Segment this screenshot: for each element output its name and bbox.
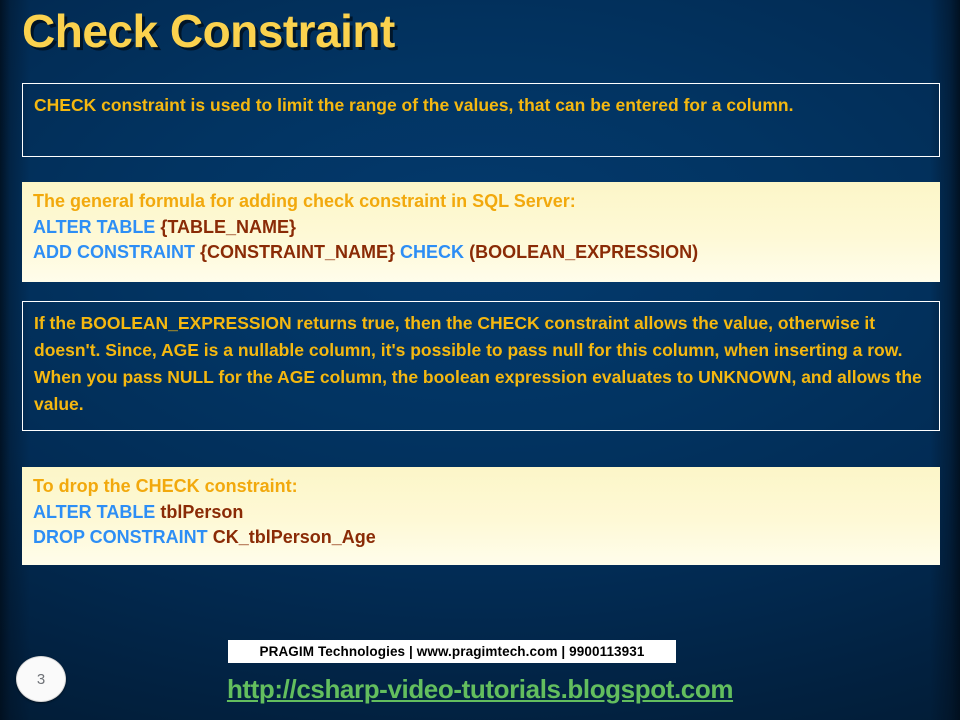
sql-identifier-table-name: {TABLE_NAME}	[160, 217, 296, 237]
formula-heading: The general formula for adding check con…	[33, 189, 930, 215]
drop-constraint-code-box: To drop the CHECK constraint: ALTER TABL…	[22, 467, 940, 565]
explanation-text: If the BOOLEAN_EXPRESSION returns true, …	[34, 313, 922, 414]
footer-blog-url[interactable]: http://csharp-video-tutorials.blogspot.c…	[0, 674, 960, 705]
explanation-text-box: If the BOOLEAN_EXPRESSION returns true, …	[22, 301, 940, 431]
sql-identifier-tblperson: tblPerson	[160, 502, 243, 522]
sql-keyword-add-constraint: ADD CONSTRAINT	[33, 242, 195, 262]
sql-identifier-ck-tblperson-age: CK_tblPerson_Age	[213, 527, 376, 547]
sql-keyword-alter-table: ALTER TABLE	[33, 217, 155, 237]
drop-heading: To drop the CHECK constraint:	[33, 474, 930, 500]
sql-identifier-boolean-expression: (BOOLEAN_EXPRESSION)	[469, 242, 698, 262]
sql-keyword-alter-table-drop: ALTER TABLE	[33, 502, 155, 522]
drop-line-drop-constraint: DROP CONSTRAINT CK_tblPerson_Age	[33, 525, 930, 551]
pragim-banner: PRAGIM Technologies | www.pragimtech.com…	[228, 640, 676, 663]
intro-text: CHECK constraint is used to limit the ra…	[34, 95, 793, 115]
drop-line-alter-table: ALTER TABLE tblPerson	[33, 500, 930, 526]
page-title: Check Constraint	[22, 4, 395, 58]
sql-keyword-check: CHECK	[400, 242, 464, 262]
intro-text-box: CHECK constraint is used to limit the ra…	[22, 83, 940, 157]
sql-identifier-constraint-name: {CONSTRAINT_NAME}	[200, 242, 395, 262]
formula-line-add-constraint: ADD CONSTRAINT {CONSTRAINT_NAME} CHECK (…	[33, 240, 930, 266]
slide-canvas: Check Constraint CHECK constraint is use…	[0, 0, 960, 720]
formula-code-box: The general formula for adding check con…	[22, 182, 940, 282]
sql-keyword-drop-constraint: DROP CONSTRAINT	[33, 527, 208, 547]
formula-line-alter-table: ALTER TABLE {TABLE_NAME}	[33, 215, 930, 241]
